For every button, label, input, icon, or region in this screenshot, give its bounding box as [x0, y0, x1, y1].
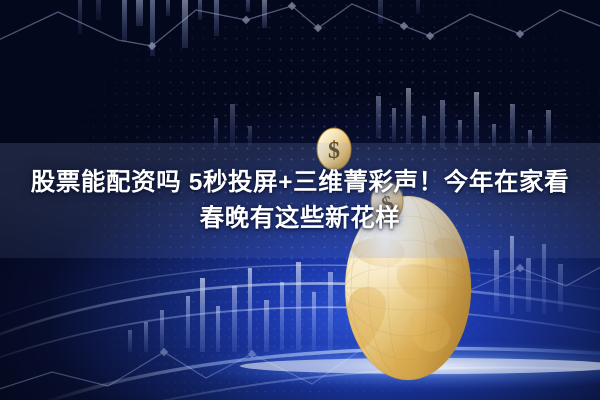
banner-image: $ $ 股票能配资吗 5秒投屏+三维菁彩声！今年在家看 春晚有这些新花样 [0, 0, 600, 400]
headline-line-1: 股票能配资吗 5秒投屏+三维菁彩声！今年在家看 [31, 168, 570, 198]
headline-line-2: 春晚有这些新花样 [200, 204, 401, 234]
headline: 股票能配资吗 5秒投屏+三维菁彩声！今年在家看 春晚有这些新花样 [0, 143, 600, 258]
